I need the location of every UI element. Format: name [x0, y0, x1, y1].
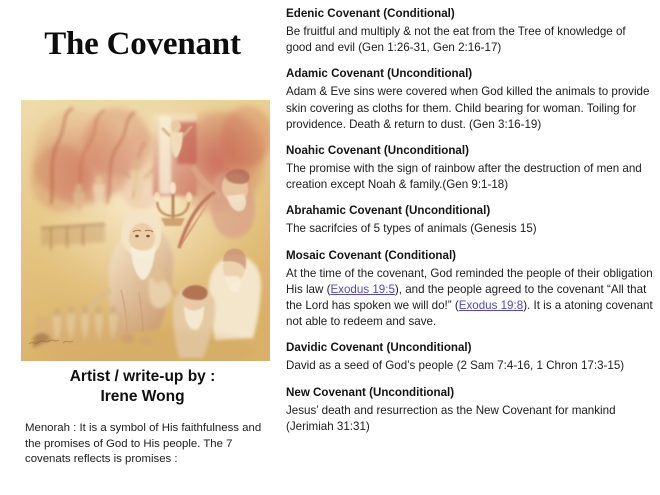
covenant-body-new: Jesus’ death and resurrection as the New… [286, 403, 654, 435]
covenant-list: Edenic Covenant (Conditional) Be fruitfu… [286, 6, 654, 491]
covenant-body-davidic: David as a seed of God’s people (2 Sam 7… [286, 358, 654, 374]
scripture-link-exodus-19-8[interactable]: Exodus 19:8 [459, 299, 523, 312]
menorah-covenant-painting [21, 100, 270, 361]
covenant-block-adamic: Adamic Covenant (Unconditional) Adam & E… [286, 66, 654, 133]
artist-caption-line-1: Artist / write-up by : [0, 367, 285, 387]
covenant-body-edenic: Be fruitful and multiply & not the eat f… [286, 24, 654, 56]
covenant-heading-adamic: Adamic Covenant (Unconditional) [286, 66, 654, 82]
covenant-heading-edenic: Edenic Covenant (Conditional) [286, 6, 654, 22]
covenant-block-new: New Covenant (Unconditional) Jesus’ deat… [286, 385, 654, 435]
covenant-block-abrahamic: Abrahamic Covenant (Unconditional) The s… [286, 203, 654, 237]
left-column: The Covenant [0, 0, 285, 495]
page-title: The Covenant [0, 26, 285, 63]
covenant-heading-mosaic: Mosaic Covenant (Conditional) [286, 248, 654, 264]
covenant-body-adamic: Adam & Eve sins were covered when God ki… [286, 84, 654, 133]
artist-name: Irene Wong [0, 387, 285, 407]
covenant-block-mosaic: Mosaic Covenant (Conditional) At the tim… [286, 248, 654, 331]
menorah-note: Menorah : It is a symbol of His faithful… [25, 421, 265, 468]
scripture-link-exodus-19-5[interactable]: Exodus 19:5 [330, 283, 394, 296]
covenant-body-noahic: The promise with the sign of rainbow aft… [286, 161, 654, 193]
artist-caption: Artist / write-up by : Irene Wong [0, 367, 285, 407]
covenant-block-davidic: Davidic Covenant (Unconditional) David a… [286, 340, 654, 374]
covenant-heading-abrahamic: Abrahamic Covenant (Unconditional) [286, 203, 654, 219]
covenant-heading-new: New Covenant (Unconditional) [286, 385, 654, 401]
covenant-block-noahic: Noahic Covenant (Unconditional) The prom… [286, 143, 654, 193]
covenant-heading-davidic: Davidic Covenant (Unconditional) [286, 340, 654, 356]
covenant-block-edenic: Edenic Covenant (Conditional) Be fruitfu… [286, 6, 654, 56]
covenant-heading-noahic: Noahic Covenant (Unconditional) [286, 143, 654, 159]
painting-canvas [21, 100, 270, 361]
covenant-body-abrahamic: The sacrifcies of 5 types of animals (Ge… [286, 221, 654, 237]
covenant-body-mosaic: At the time of the covenant, God reminde… [286, 266, 654, 331]
